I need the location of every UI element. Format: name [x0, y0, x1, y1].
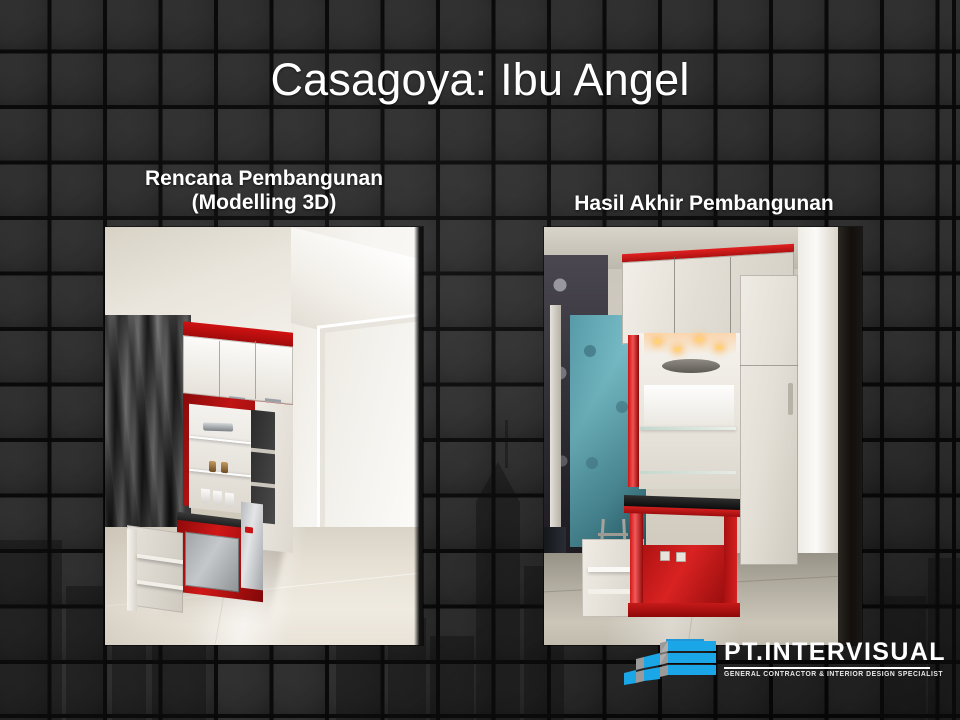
image-finished-build-photo — [544, 227, 862, 645]
render-dispenser-tap — [245, 527, 253, 534]
caption-left-line1: Rencana Pembangunan — [84, 167, 444, 191]
photo-tall-cabinet-divider — [740, 365, 798, 366]
render-cabinet-divider-1 — [219, 341, 220, 399]
render-water-dispenser — [241, 502, 263, 591]
render-jar-2 — [221, 462, 228, 474]
photo-tall-cabinet — [740, 275, 798, 565]
presentation-slide: Casagoya: Ibu Angel Rencana Pembangunan … — [0, 0, 960, 720]
image-3d-model-render — [105, 227, 423, 645]
photo-red-side-trim — [628, 335, 639, 487]
intervisual-building-mark — [624, 641, 716, 685]
photo-spotlight-3 — [696, 337, 703, 342]
photo-glass-shelf-2 — [640, 471, 736, 474]
photo-desk-leg-left — [630, 511, 643, 607]
render-jar-1 — [209, 461, 216, 473]
photo-power-socket-1 — [660, 551, 670, 561]
photo-spotlight-2 — [674, 347, 681, 352]
logo-divider-rule — [724, 667, 930, 669]
photo-desk-base — [628, 603, 740, 617]
photo-niche-light-glow — [644, 333, 736, 355]
render-glass-rack — [203, 422, 233, 431]
render-wine-glass-1 — [201, 489, 210, 504]
caption-right: Hasil Akhir Pembangunan — [500, 192, 908, 216]
caption-left: Rencana Pembangunan (Modelling 3D) — [84, 167, 444, 216]
photo-spotlight-4 — [716, 345, 723, 350]
logo-company-name: PT.INTERVISUAL — [724, 640, 932, 665]
logo-text-block: PT.INTERVISUAL GENERAL CONTRACTOR & INTE… — [724, 640, 932, 679]
render-cabinet-divider-2 — [255, 341, 256, 399]
photo-cabinet-divider-2 — [730, 257, 731, 339]
photo-tall-cabinet-handle — [788, 383, 793, 415]
render-wine-glass-3 — [225, 493, 234, 508]
photo-ceiling-fixture — [662, 359, 720, 373]
render-low-shelf-side-panel — [127, 528, 137, 611]
photo-right-dark-edge — [838, 227, 862, 645]
caption-right-line1: Hasil Akhir Pembangunan — [500, 192, 908, 216]
photo-power-socket-2 — [676, 552, 686, 562]
render-right-dark-edge — [414, 227, 423, 645]
ladder-step — [598, 533, 628, 536]
page-title: Casagoya: Ibu Angel — [0, 56, 960, 105]
photo-mirror-panel — [644, 385, 734, 427]
photo-glass-shelf-1 — [640, 427, 736, 430]
photo-spotlight-1 — [654, 339, 661, 344]
render-wine-glass-2 — [213, 491, 222, 506]
company-logo: PT.INTERVISUAL GENERAL CONTRACTOR & INTE… — [624, 641, 932, 693]
photo-cabinet-divider-1 — [674, 257, 675, 339]
logo-tagline: GENERAL CONTRACTOR & INTERIOR DESIGN SPE… — [724, 671, 926, 679]
photo-desk-leg-right — [724, 511, 737, 607]
render-wall-panel-upper — [317, 312, 423, 562]
caption-left-line2: (Modelling 3D) — [84, 191, 444, 215]
render-mini-fridge — [185, 532, 239, 593]
